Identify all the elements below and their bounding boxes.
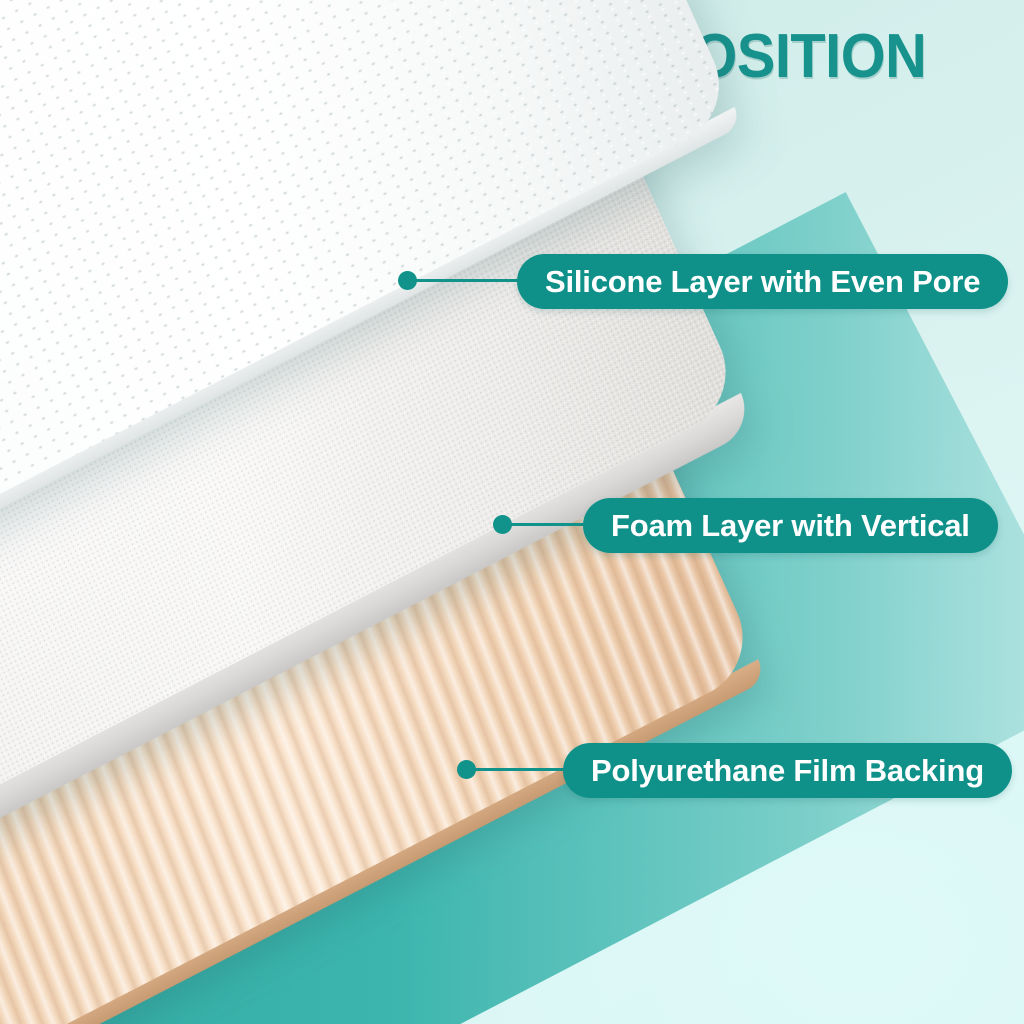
callout-label-film[interactable]: Polyurethane Film Backing: [563, 743, 1012, 798]
callout-label-silicone[interactable]: Silicone Layer with Even Pore: [517, 254, 1008, 309]
infographic-canvas: STRUCTURE & COMPOSITION Silicone Layer w…: [0, 0, 1024, 1024]
callout-label-foam[interactable]: Foam Layer with Vertical: [583, 498, 998, 553]
